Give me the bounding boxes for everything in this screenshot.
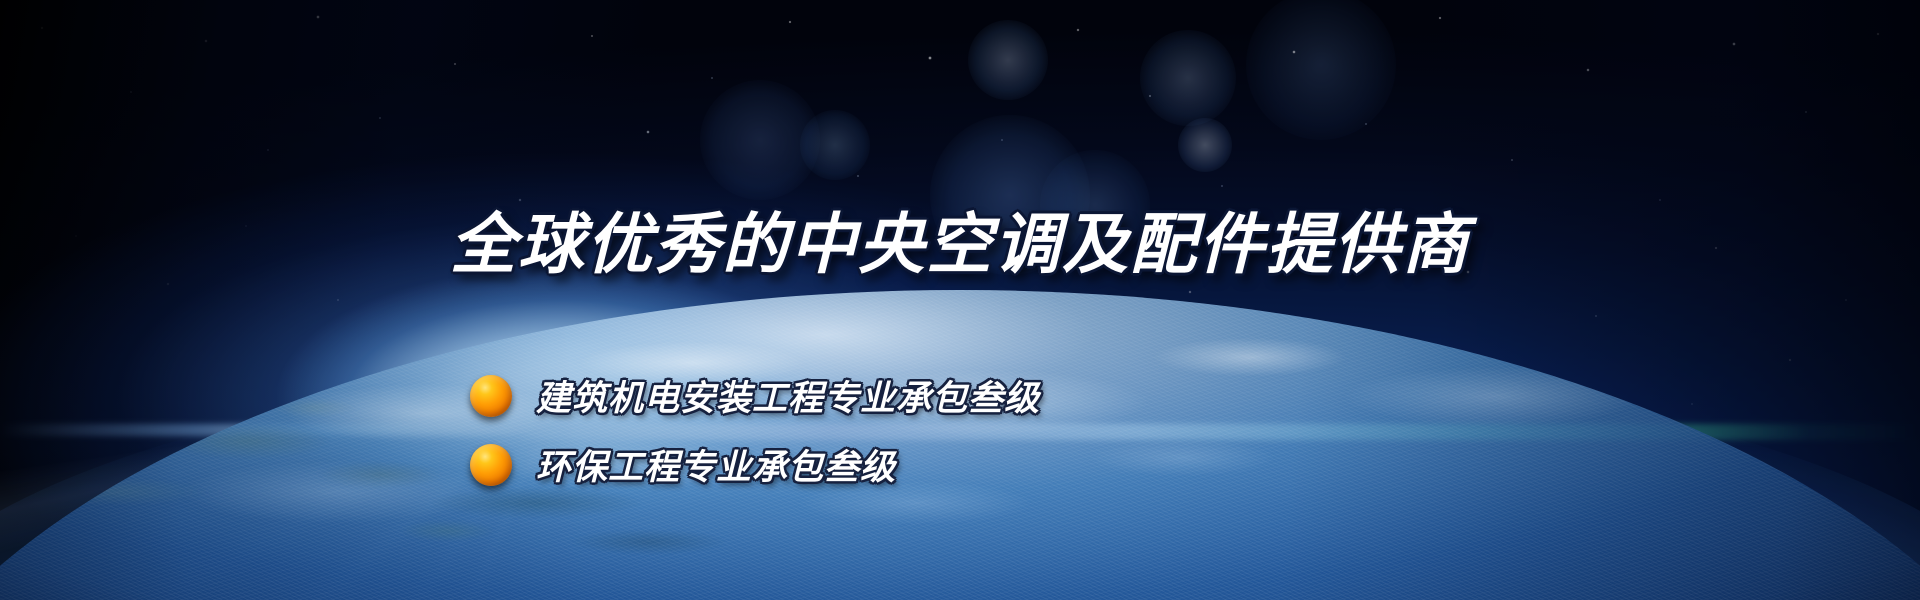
banner-content: 全球优秀的中央空调及配件提供商 建筑机电安装工程专业承包叁级 环保工程专业承包叁…	[0, 0, 1920, 600]
orange-bullet-dot-icon	[470, 444, 512, 486]
list-item-label: 环保工程专业承包叁级	[536, 439, 896, 490]
hero-banner: 全球优秀的中央空调及配件提供商 建筑机电安装工程专业承包叁级 环保工程专业承包叁…	[0, 0, 1920, 600]
list-item-label: 建筑机电安装工程专业承包叁级	[536, 370, 1040, 421]
feature-list: 建筑机电安装工程专业承包叁级 环保工程专业承包叁级	[470, 370, 1040, 490]
list-item: 建筑机电安装工程专业承包叁级	[470, 370, 1040, 421]
orange-bullet-dot-icon	[470, 375, 512, 417]
list-item: 环保工程专业承包叁级	[470, 439, 1040, 490]
page-title: 全球优秀的中央空调及配件提供商	[0, 212, 1920, 278]
